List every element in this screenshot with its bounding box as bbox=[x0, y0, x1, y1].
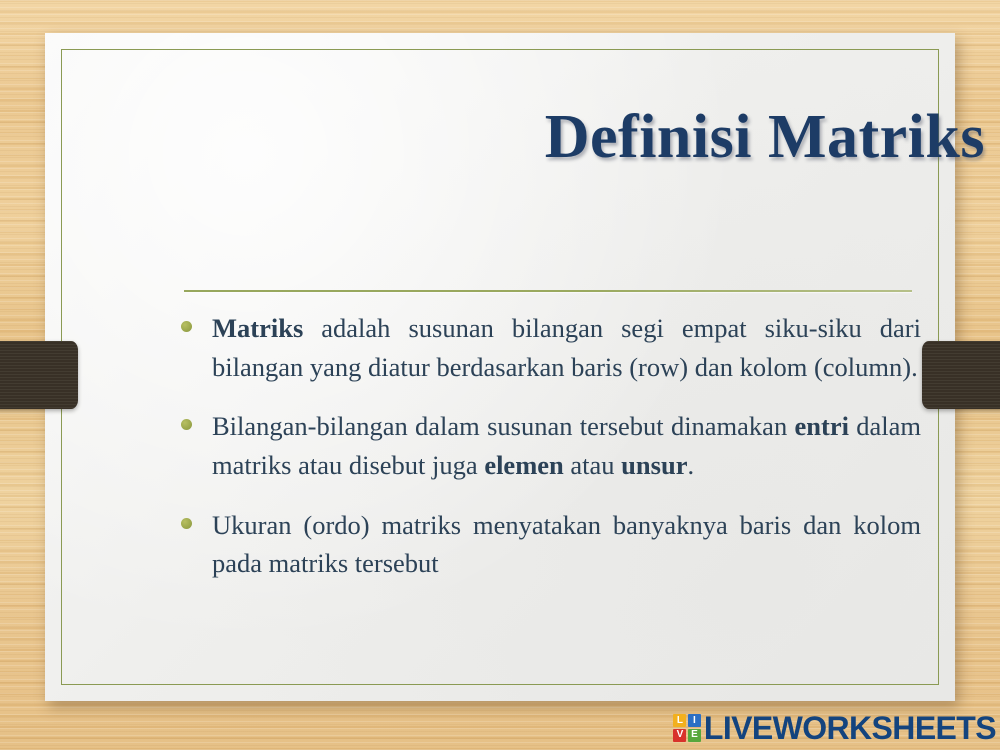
bullet-list: Matriks adalah susunan bilangan segi emp… bbox=[181, 309, 921, 604]
list-item-text: Ukuran (ordo) matriks menyatakan banyakn… bbox=[212, 506, 921, 583]
logo-tile-i: I bbox=[688, 714, 701, 727]
slide-canvas: Definisi Matriks Matriks adalah susunan … bbox=[0, 0, 1000, 750]
logo-tile-e: E bbox=[688, 729, 701, 742]
bullet-dot-icon bbox=[181, 419, 192, 430]
list-item: Matriks adalah susunan bilangan segi emp… bbox=[181, 309, 921, 386]
slide-card: Definisi Matriks Matriks adalah susunan … bbox=[45, 33, 955, 701]
list-item-text: Bilangan-bilangan dalam susunan tersebut… bbox=[212, 407, 921, 484]
logo-tile-v: V bbox=[673, 729, 686, 742]
list-item: Bilangan-bilangan dalam susunan tersebut… bbox=[181, 407, 921, 484]
list-item-text: Matriks adalah susunan bilangan segi emp… bbox=[212, 309, 921, 386]
bullet-dot-icon bbox=[181, 321, 192, 332]
decorative-strap-left bbox=[0, 341, 78, 409]
liveworksheets-logo-icon: L I V E bbox=[673, 714, 701, 742]
decorative-strap-right bbox=[922, 341, 1000, 409]
bullet-dot-icon bbox=[181, 518, 192, 529]
liveworksheets-wordmark: LIVEWORKSHEETS bbox=[704, 712, 996, 744]
liveworksheets-watermark: L I V E LIVEWORKSHEETS bbox=[673, 712, 996, 744]
logo-tile-l: L bbox=[673, 714, 686, 727]
page-title: Definisi Matriks bbox=[175, 105, 985, 170]
list-item: Ukuran (ordo) matriks menyatakan banyakn… bbox=[181, 506, 921, 583]
title-divider bbox=[184, 290, 912, 292]
